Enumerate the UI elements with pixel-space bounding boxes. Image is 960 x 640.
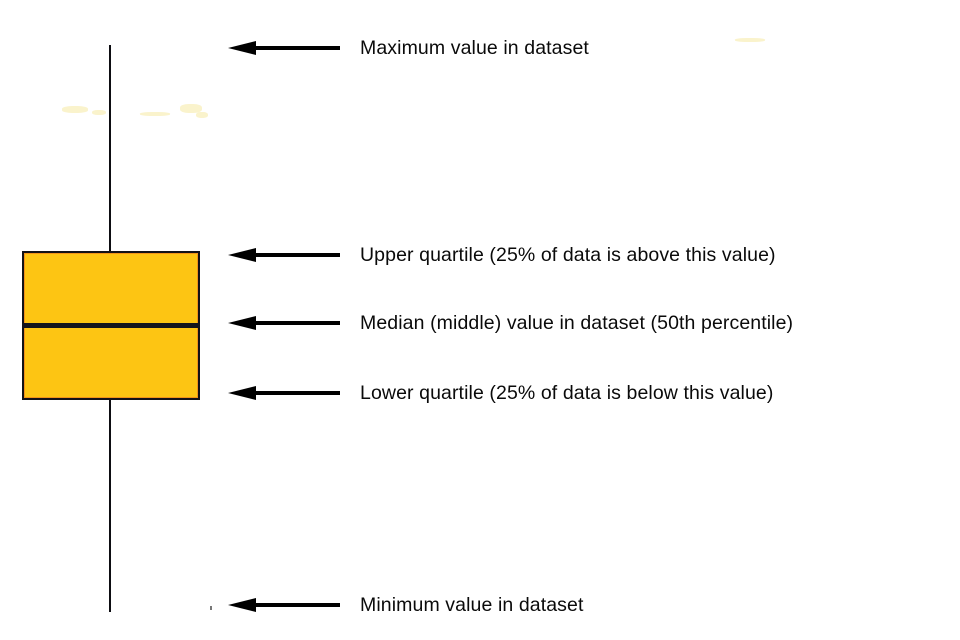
scan-artifact [140,112,170,116]
arrow-left-icon [228,598,340,612]
annotation-label-minimum: Minimum value in dataset [360,594,584,617]
median-line [22,323,200,328]
annotation-median: Median (middle) value in dataset (50th p… [228,310,793,336]
scan-speck [210,606,212,610]
annotation-label-upper-quartile: Upper quartile (25% of data is above thi… [360,244,776,267]
scan-artifact [62,106,88,113]
scan-artifact [92,110,106,115]
arrow-left-icon [228,316,340,330]
annotation-label-lower-quartile: Lower quartile (25% of data is below thi… [360,382,773,405]
scan-artifact [180,104,202,113]
boxplot-diagram-canvas: Maximum value in dataset Upper quartile … [0,0,960,640]
scan-artifact [735,38,765,42]
annotation-lower-quartile: Lower quartile (25% of data is below thi… [228,380,773,406]
arrow-left-icon [228,248,340,262]
arrow-left-icon [228,41,340,55]
scan-artifact [196,112,208,118]
annotation-upper-quartile: Upper quartile (25% of data is above thi… [228,242,776,268]
annotation-label-median: Median (middle) value in dataset (50th p… [360,312,793,335]
annotation-maximum: Maximum value in dataset [228,35,589,61]
annotation-label-maximum: Maximum value in dataset [360,37,589,60]
arrow-left-icon [228,386,340,400]
annotation-minimum: Minimum value in dataset [228,592,584,618]
